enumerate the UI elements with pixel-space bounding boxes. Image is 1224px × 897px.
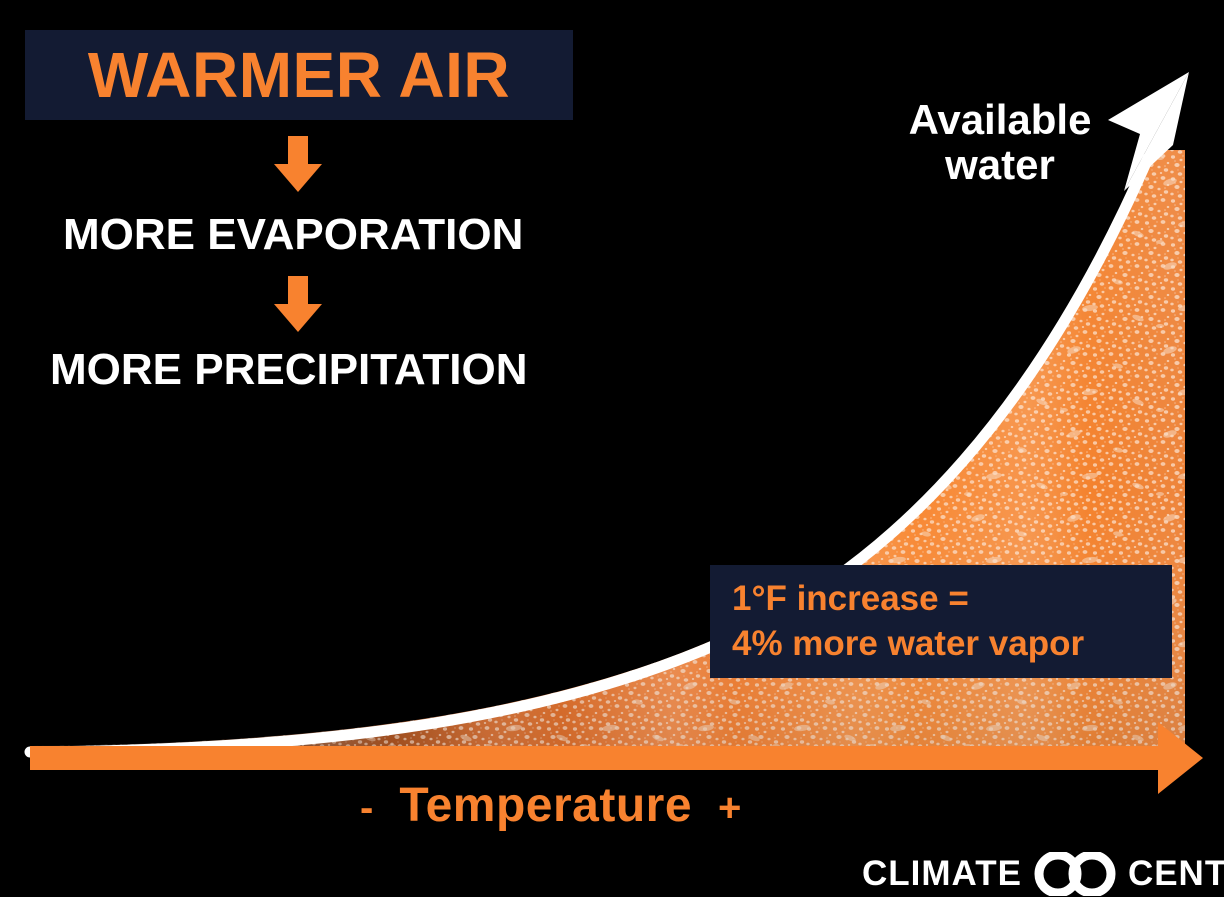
x-axis-minus-sign: -	[360, 786, 373, 831]
interlocking-rings-icon	[1032, 852, 1118, 896]
stat-callout-box: 1°F increase = 4% more water vapor	[710, 565, 1172, 678]
climate-central-logo: CLIMATE CENTRAL	[862, 852, 1224, 896]
arrow-head	[274, 304, 322, 332]
stat-callout-line-1: 1°F increase =	[732, 577, 1172, 621]
arrow-right-icon	[1158, 722, 1203, 794]
arrow-down-icon-2	[274, 276, 322, 332]
x-axis-plus-sign: +	[718, 786, 741, 831]
title-banner: WARMER AIR	[25, 30, 573, 120]
flow-step-evaporation: MORE EVAPORATION	[63, 213, 523, 257]
arrow-down-icon	[274, 136, 322, 192]
curve-arrowhead-icon	[1108, 72, 1189, 191]
x-axis-bar	[30, 746, 1163, 770]
stat-callout-line-2: 4% more water vapor	[732, 622, 1172, 666]
arrow-shaft	[288, 136, 308, 166]
logo-word-central: CENTRAL	[1128, 854, 1224, 894]
x-axis-title: Temperature	[399, 778, 692, 833]
flow-step-precipitation: MORE PRECIPITATION	[50, 348, 528, 392]
arrow-shaft	[288, 276, 308, 306]
available-water-annotation: Available water	[880, 98, 1120, 187]
infographic-canvas: WARMER AIR MORE EVAPORATION MORE PRECIPI…	[0, 0, 1224, 897]
arrow-head	[274, 164, 322, 192]
curve-arrowhead-fill-icon	[1124, 72, 1189, 191]
logo-word-climate: CLIMATE	[862, 854, 1022, 894]
page-title: WARMER AIR	[88, 43, 510, 107]
x-axis-label-row: - Temperature +	[360, 778, 741, 833]
